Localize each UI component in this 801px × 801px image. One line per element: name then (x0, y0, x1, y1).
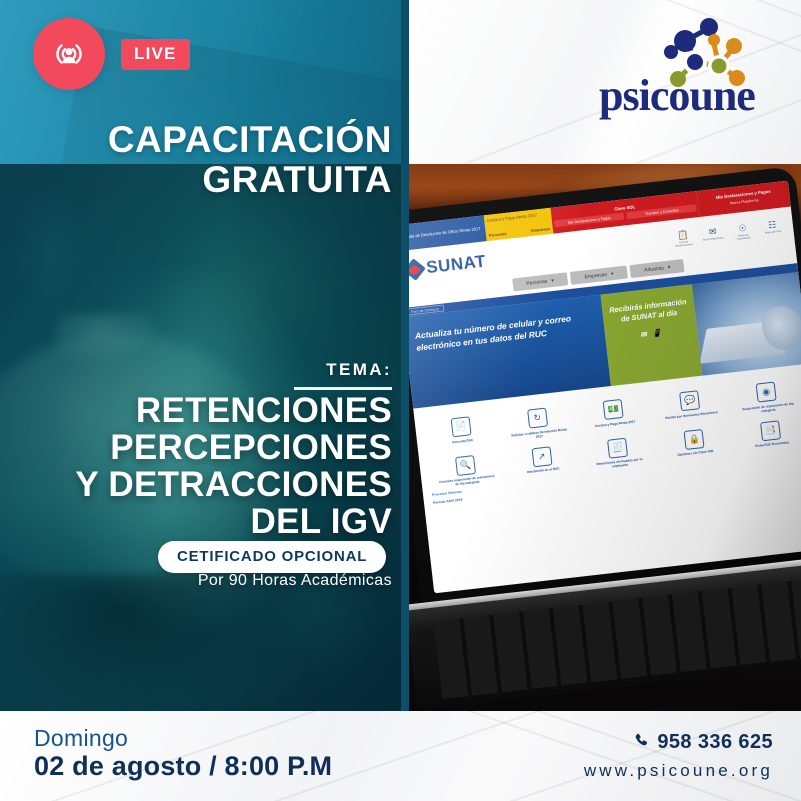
nav-declara-personas[interactable]: Personas (488, 231, 506, 238)
nav-mis-declaraciones-btn[interactable]: Mis Declaraciones y Pagos (554, 213, 624, 228)
quick-link-label: Libro de Reclamaciones (672, 240, 696, 249)
banner-green-panel: Recibirás información de SUNAT al día ✉ … (601, 284, 702, 386)
sunat-logo[interactable]: SUNAT (409, 251, 487, 280)
grid-item-label: Declara y Paga Renta 2017 (587, 418, 643, 428)
document-zoom-icon: 🔍 (455, 455, 476, 476)
envelope-icon: ✉ (640, 329, 647, 340)
course-title: RETENCIONES PERCEPCIONES Y DETRACCIONES … (0, 392, 392, 540)
grid-item-label: Recibo por Honorarios Electrónico (663, 409, 719, 419)
stamp-icon: ☉ (738, 223, 747, 233)
academic-hours-label: Por 90 Horas Académicas (0, 572, 392, 590)
chat-icon: 💬 (679, 390, 700, 411)
chevron-down-icon: ▾ (611, 271, 614, 277)
phone-number: 958 336 625 (657, 731, 773, 754)
exit-icon: ↗ (531, 446, 552, 467)
tab-personas-label: Personas (526, 278, 548, 286)
page-title: CAPACITACIÓN GRATUITA (0, 120, 392, 199)
right-photo-desk: Consulta de Devolución de Oficio Renta 2… (409, 164, 801, 711)
file-search-icon: 📑 (760, 420, 781, 441)
banner-green-icons: ✉ 📱 (640, 328, 662, 341)
grid-item-label: Consulta RUC (435, 436, 491, 446)
event-date-time: 02 de agosto / 8:00 P.M (34, 751, 332, 782)
grid-item-suspension-retenciones[interactable]: ◉ Suspensión de retenciones de 4ta categ… (728, 378, 801, 416)
tab-empresas-label: Empresas (584, 271, 607, 280)
refresh-icon: ↻ (527, 408, 548, 429)
banner-green-text: Recibirás información de SUNAT al día (606, 297, 691, 327)
grid-item-devolucion-renta[interactable]: ↻ Solicitar o ratificar Devolución Renta… (499, 404, 577, 442)
website-url[interactable]: www.psicoune.org (584, 761, 773, 781)
nav-mis-sub: Nueva Plataforma (730, 199, 759, 207)
course-title-line-4: DEL IGV (0, 503, 392, 540)
svg-text:psicoune: psicoune (599, 71, 755, 120)
contact-block: 958 336 625 www.psicoune.org (584, 731, 773, 781)
chevron-down-icon: ▾ (668, 264, 671, 270)
quick-link-label: Buzón Electrónico (703, 236, 724, 241)
quick-link-libro-reclamaciones[interactable]: 📋 Libro de Reclamaciones (671, 229, 696, 248)
chevron-down-icon: ▾ (551, 277, 554, 283)
tab-aduanas-label: Aduanas (644, 265, 664, 273)
grid-item-label: Solicitar o ratificar Devolución Renta 2… (511, 427, 568, 441)
mobile-icon: 📱 (652, 328, 662, 339)
certificate-badge: CETIFICADO OPCIONAL (158, 541, 386, 573)
course-title-line-2: PERCEPCIONES (0, 429, 392, 466)
grid-item-label: Opciones sin Clave SOL (668, 448, 724, 458)
grid-item-recibo-honorarios[interactable]: 💬 Recibo por Honorarios Electrónico (652, 387, 730, 425)
quick-link-label: Mapa del Sitio (765, 230, 782, 235)
quick-link-label: Firma de Transacción (732, 233, 756, 242)
phone-handset-icon (633, 732, 650, 754)
nav-clave-title: Clave SOL (614, 204, 635, 211)
envelope-icon: ✉ (708, 227, 717, 237)
tema-label: TEMA: (326, 360, 392, 380)
nav-tramites-consultas-btn[interactable]: Trámites y Consultas (627, 204, 697, 219)
quick-link-buzon-electronico[interactable]: ✉ Buzón Electrónico (701, 226, 726, 245)
broadcast-person-icon (33, 18, 105, 90)
laptop-screen: Consulta de Devolución de Oficio Renta 2… (409, 181, 801, 594)
quick-link-firma-transaccion[interactable]: ☉ Firma de Transacción (731, 223, 756, 242)
grid-item-consulta-ruc[interactable]: 📄 Consulta RUC (423, 413, 501, 451)
header-navy-divider (401, 0, 409, 164)
badge-icon: ◉ (756, 382, 777, 403)
mid-navy-divider (401, 164, 409, 711)
event-date-block: Domingo 02 de agosto / 8:00 P.M (34, 726, 332, 782)
laptop: Consulta de Devolución de Oficio Renta 2… (409, 166, 801, 711)
headline-line-1: CAPACITACIÓN (108, 119, 392, 160)
grid-item-label: Inscripción en el RUC (515, 465, 571, 475)
grid-item-declara-paga-renta[interactable]: 💵 Declara y Paga Renta 2017 (575, 396, 653, 434)
sunat-mark-icon (409, 258, 426, 280)
course-title-line-3: Y DETRACCIONES (0, 466, 392, 503)
live-badge: LIVE (121, 39, 190, 70)
banner-photo (691, 272, 801, 376)
nav-declara-empresas[interactable]: Empresas (531, 226, 551, 233)
sunat-wordmark: SUNAT (425, 251, 487, 278)
document-search-icon: 📄 (450, 416, 471, 437)
phone-row[interactable]: 958 336 625 (584, 731, 773, 754)
promo-poster: LIVE (0, 0, 801, 801)
psicoune-logo: psicoune (583, 10, 783, 120)
grid-item-label: Ficha RUC Económica (744, 439, 800, 449)
money-icon: 💵 (603, 399, 624, 420)
headline-line-2: GRATUITA (0, 160, 392, 200)
tema-block: TEMA: (0, 360, 392, 390)
sitemap-icon: ☷ (768, 220, 777, 230)
receipt-icon: 🧾 (607, 437, 628, 458)
live-cluster: LIVE (33, 18, 190, 90)
course-title-line-1: RETENCIONES (0, 392, 392, 429)
clipboard-icon: 📋 (677, 230, 689, 240)
event-day: Domingo (34, 726, 332, 750)
grid-item-label: Suspensión de retenciones de 4ta categor… (740, 401, 797, 415)
sunat-quick-links: 📋 Libro de Reclamaciones ✉ Buzón Electró… (671, 219, 785, 248)
lock-icon: 🔒 (684, 428, 705, 449)
tema-underline (294, 387, 392, 390)
quick-link-mapa-sitio[interactable]: ☷ Mapa del Sitio (760, 219, 785, 238)
